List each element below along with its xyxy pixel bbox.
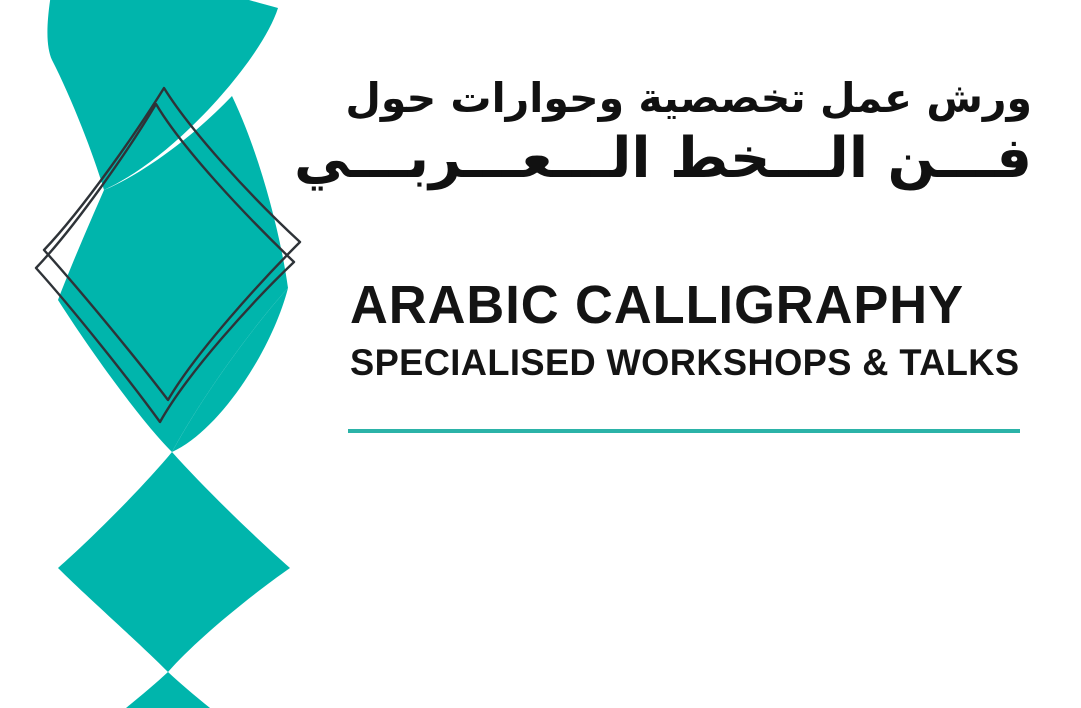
decorative-graphic [0,0,330,708]
arabic-title-line: فـــن الـــخط الـــعـــربـــي [348,126,1032,192]
teal-diamond-chain [47,0,290,708]
arabic-subtitle-line: ورش عمل تخصصية وحوارات حول [348,76,1032,122]
arabic-headline-block: ورش عمل تخصصية وحوارات حول فـــن الـــخط… [348,76,1032,192]
accent-divider-rule [348,429,1020,433]
poster-canvas: ورش عمل تخصصية وحوارات حول فـــن الـــخط… [0,0,1081,708]
latin-subtitle: SPECIALISED WORKSHOPS & TALKS [350,344,1019,381]
headline-content: ورش عمل تخصصية وحوارات حول فـــن الـــخط… [348,0,1048,708]
latin-title: ARABIC CALLIGRAPHY [350,278,964,332]
